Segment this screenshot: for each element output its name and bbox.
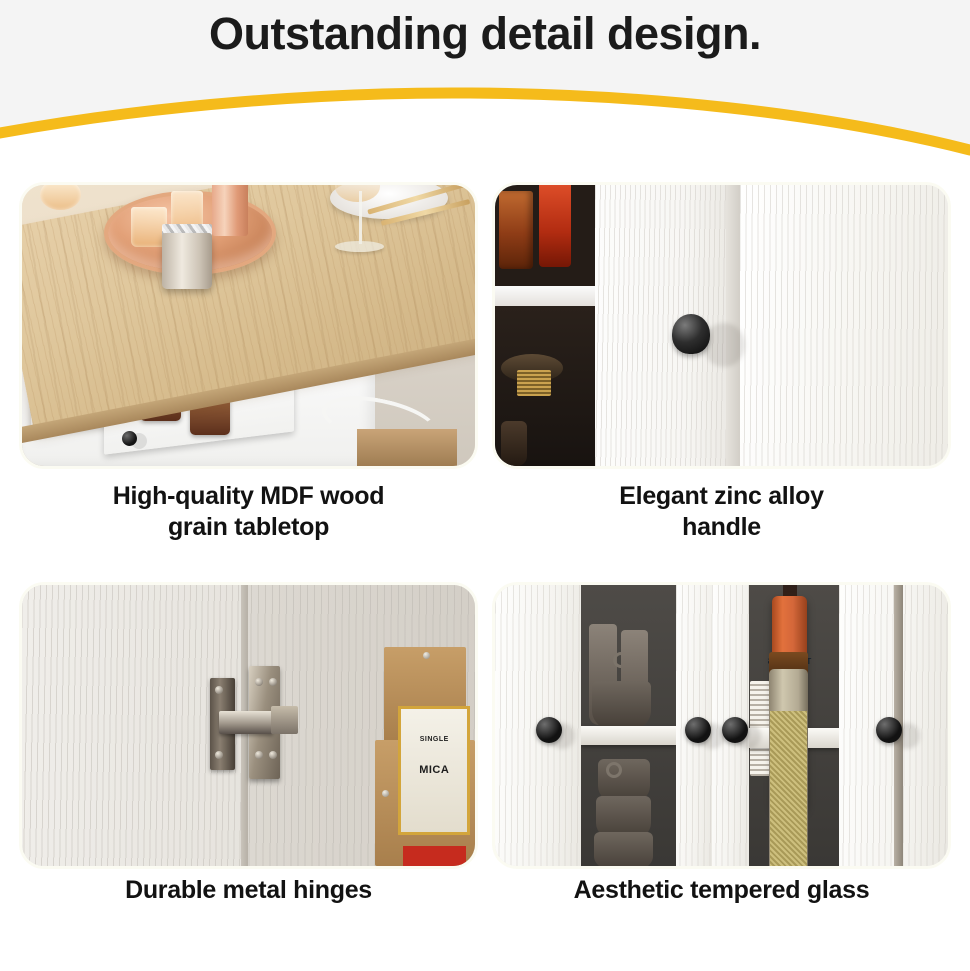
zinc-alloy-knob: [672, 314, 710, 354]
caption-line: handle: [495, 512, 948, 543]
caption-line: High-quality MDF wood: [22, 481, 475, 512]
gold-rim-stack: [517, 370, 551, 395]
drawer-knob: [122, 431, 137, 446]
glass-bowl-upper: [592, 681, 651, 732]
wine-glass-stem: [359, 191, 362, 244]
coffee-bag-rivet-2: [382, 790, 389, 797]
hinge-plate-screw-4: [269, 751, 277, 759]
feature-card-mdf-tabletop: High-quality MDF wood grain tabletop: [22, 185, 475, 585]
page-title: Outstanding detail design.: [0, 8, 970, 60]
glass-door-knob-3: [722, 717, 748, 743]
drink-can: [212, 185, 248, 236]
photo-frame-metal-hinges: SINGLE MICA: [22, 585, 475, 866]
ice-bucket: [162, 233, 212, 289]
hinge-arm: [219, 711, 273, 733]
caption-tempered-glass: Aesthetic tempered glass: [495, 875, 948, 906]
storage-box: [357, 429, 457, 466]
glass-door-knob-1: [536, 717, 562, 743]
feature-card-metal-hinges: SINGLE MICA Durable metal hinges: [22, 585, 475, 960]
caption-line: Durable metal hinges: [22, 875, 475, 906]
hinge-plate-screw-1: [255, 678, 263, 686]
photo-frame-tempered-glass: TEACHER'S: [495, 585, 948, 866]
dark-cup: [501, 421, 527, 466]
caption-line: grain tabletop: [22, 512, 475, 543]
coffee-bag-label-line-2: MICA: [401, 764, 467, 776]
photo-zinc-alloy-handle: [495, 185, 948, 466]
glass-shelf-1: [581, 726, 676, 746]
red-bottle: [539, 185, 571, 267]
coffee-bag-red-strip: [403, 846, 466, 866]
hinge-plate-screw-2: [269, 678, 277, 686]
open-shelf-interior: [495, 185, 595, 466]
coffee-bag-label: SINGLE MICA: [398, 706, 470, 835]
header-band: Outstanding detail design.: [0, 0, 970, 175]
amber-bottle: [499, 191, 533, 270]
caption-metal-hinges: Durable metal hinges: [22, 875, 475, 906]
caption-line: Elegant zinc alloy: [495, 481, 948, 512]
coffee-bag-label-line-1: SINGLE: [401, 736, 467, 743]
caption-line: Aesthetic tempered glass: [495, 875, 948, 906]
hinge-screw-bottom: [215, 751, 223, 759]
feature-grid: High-quality MDF wood grain tabletop: [22, 185, 948, 960]
glass-door-knob-4: [876, 717, 902, 743]
photo-frame-mdf-tabletop: [22, 185, 475, 466]
cabinet-door-right: [740, 185, 948, 466]
photo-tempered-glass: TEACHER'S: [495, 585, 948, 866]
grain-contents: [770, 711, 806, 866]
caption-zinc-handle: Elegant zinc alloy handle: [495, 481, 948, 543]
caption-mdf-tabletop: High-quality MDF wood grain tabletop: [22, 481, 475, 543]
stacked-bowl-handle: [606, 762, 622, 778]
photo-metal-hinge: SINGLE MICA: [22, 585, 475, 866]
stacked-bowl-3: [594, 832, 653, 866]
hinge-cup: [271, 706, 298, 734]
feature-card-tempered-glass: TEACHER'S: [495, 585, 948, 960]
tempered-glass-pane-1: [581, 585, 676, 866]
photo-mdf-tabletop: [22, 185, 475, 466]
knob-shadow: [703, 323, 745, 367]
hinge-screw-top: [215, 686, 223, 694]
tempered-glass-pane-2: TEACHER'S: [749, 585, 840, 866]
photo-frame-zinc-handle: [495, 185, 948, 466]
feature-card-zinc-handle: Elegant zinc alloy handle: [495, 185, 948, 585]
